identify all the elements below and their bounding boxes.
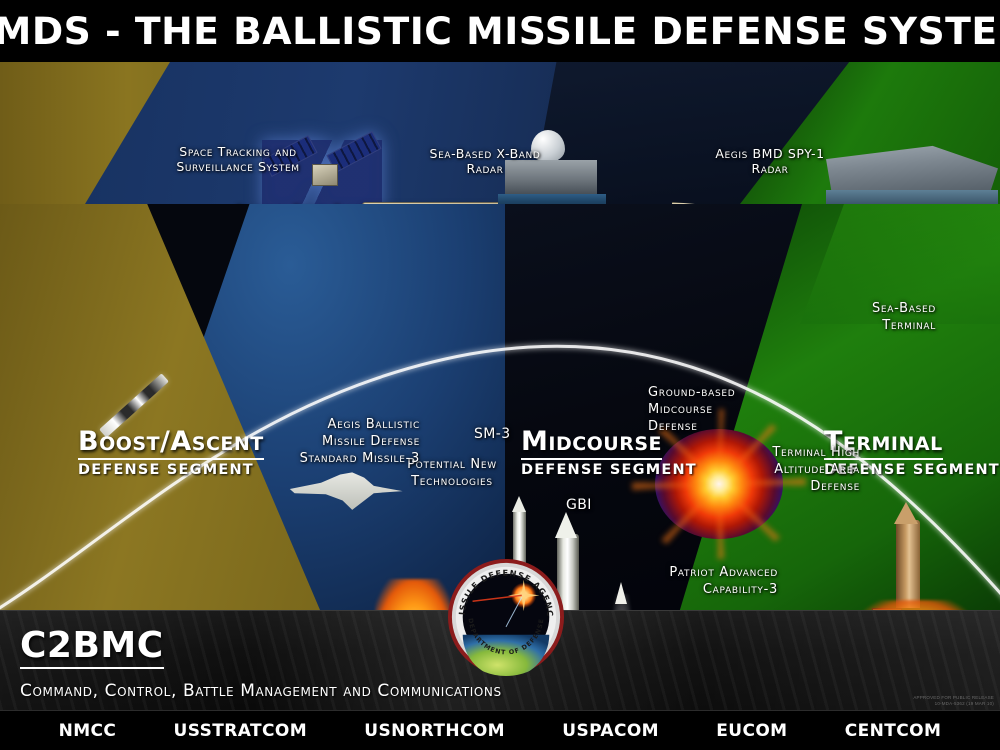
command-eucom[interactable]: EUCOM: [716, 721, 787, 741]
segment-subtitle-midcourse: DEFENSE SEGMENT: [521, 462, 697, 478]
command-usstratcom[interactable]: USSTRATCOM: [174, 721, 308, 741]
mda-seal: MISSILE DEFENSE AGENCY DEPARTMENT OF DEF…: [447, 558, 565, 676]
segment-title-midcourse: Midcourse: [521, 426, 662, 460]
page-title: BMDS - THE BALLISTIC MISSILE DEFENSE SYS…: [0, 10, 1000, 53]
caption-thaad: Terminal High Altitude Area Defense: [750, 444, 860, 495]
bmds-poster: BMDS - THE BALLISTIC MISSILE DEFENSE SYS…: [0, 0, 1000, 750]
c2bmc-expansion: Command, Control, Battle Management and …: [20, 681, 502, 701]
segment-heading-boost: Boost/Ascent DEFENSE SEGMENT: [78, 426, 264, 478]
c2bmc-acronym: C2BMC: [20, 625, 164, 669]
aegis-ocean-image: [826, 190, 998, 204]
command-nmcc[interactable]: NMCC: [59, 721, 117, 741]
sensor-caption-aegis-bmd-spy1-radar: Aegis BMD SPY-1 Radar: [700, 146, 840, 176]
command-uspacom[interactable]: USPACOM: [562, 721, 659, 741]
sea-based-terminal-flame-image: [860, 600, 970, 610]
public-release-note: APPROVED FOR PUBLIC RELEASE 10-MDA-5362 …: [913, 695, 994, 707]
caption-gbi: GBI: [566, 497, 592, 514]
segment-subtitle-boost: DEFENSE SEGMENT: [78, 462, 264, 478]
gbi-nose-cone-icon: [555, 512, 577, 538]
caption-ground-based-midcourse-defense: Ground-based Midcourse Defense: [648, 384, 778, 435]
sm3-nose-cone-icon: [512, 496, 526, 512]
defense-segments-panel: Boost/Ascent DEFENSE SEGMENT Midcourse D…: [0, 204, 1000, 610]
combatant-commands-strip: NMCC USSTRATCOM USNORTHCOM USPACOM EUCOM…: [0, 710, 1000, 750]
sensors-band: SENSORS Space Tracking and Surveillance …: [0, 62, 1000, 204]
sensor-caption-sea-based-x-band-radar: Sea-Based X-Band Radar: [415, 146, 555, 176]
caption-patriot-advanced-capability-3: Patriot Advanced Capability-3: [648, 564, 778, 598]
sm3-launch-flame-image: [375, 579, 453, 610]
caption-sea-based-terminal: Sea-Based Terminal: [826, 300, 936, 334]
sea-based-terminal-missile-image: [896, 520, 920, 608]
sea-based-terminal-nose-icon: [894, 502, 918, 524]
segment-title-boost: Boost/Ascent: [78, 426, 264, 460]
poster-title-bar: BMDS - THE BALLISTIC MISSILE DEFENSE SYS…: [0, 0, 1000, 62]
caption-aegis-bmd-sm3: Aegis Ballistic Missile Defense Standard…: [250, 416, 420, 467]
sbx-ocean-image: [498, 194, 606, 204]
command-centcom[interactable]: CENTCOM: [845, 721, 942, 741]
caption-sm3: SM-3: [474, 426, 511, 443]
sensor-caption-stss: Space Tracking and Surveillance System: [148, 144, 328, 174]
command-usnorthcom[interactable]: USNORTHCOM: [364, 721, 505, 741]
gmd-interceptor-icon: [615, 582, 627, 604]
